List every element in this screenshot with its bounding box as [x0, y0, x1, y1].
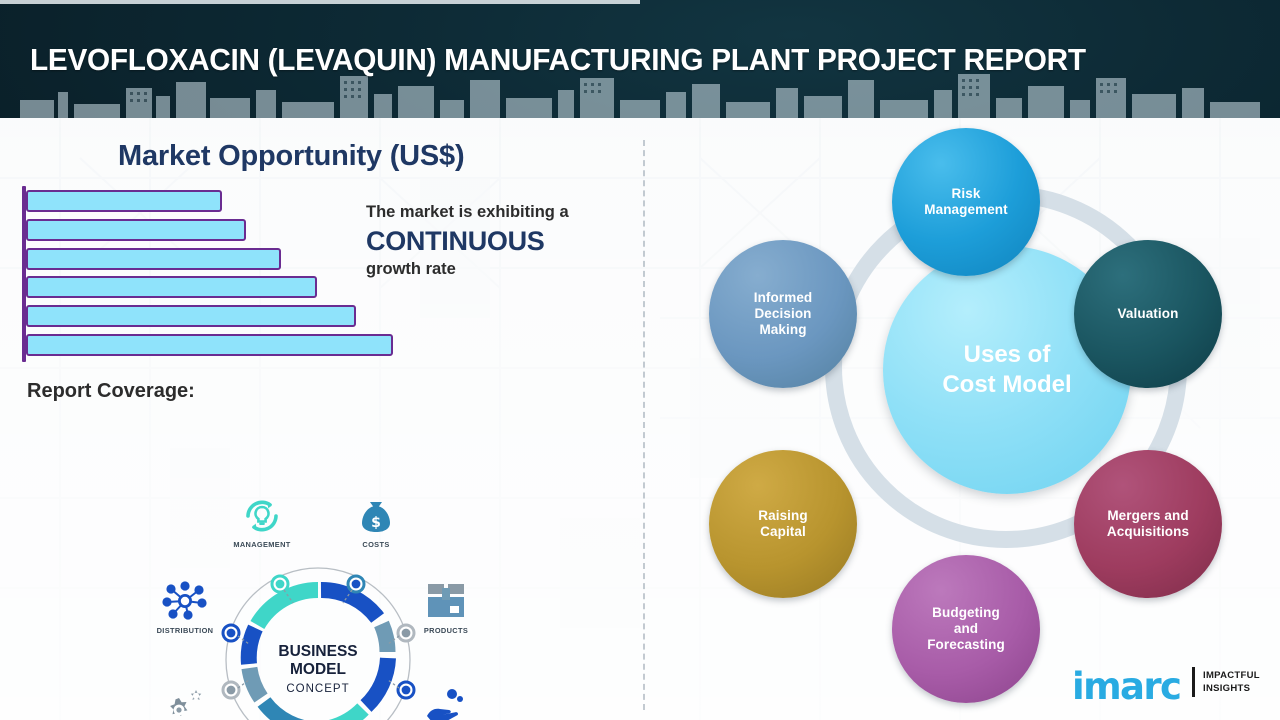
bubble-risk-management[interactable]: Risk Management — [892, 128, 1040, 276]
budgeting-line1: Budgeting — [927, 605, 1005, 621]
market-opportunity-title: Market Opportunity (US$) — [118, 140, 464, 173]
bubble-budgeting-and-forecasting[interactable]: Budgeting and Forecasting — [892, 555, 1040, 703]
informed-line2: Decision — [754, 306, 813, 322]
bar-4 — [26, 276, 317, 298]
bar-3 — [26, 248, 281, 270]
svg-text:CONCEPT: CONCEPT — [286, 683, 349, 695]
raising-capital-line1: Raising — [758, 508, 807, 524]
header-notch — [0, 0, 640, 4]
informed-line1: Informed — [754, 290, 813, 306]
imarc-wordmark: imarc — [1072, 665, 1180, 708]
valuation-label: Valuation — [1118, 306, 1179, 322]
logo-divider — [1192, 667, 1195, 697]
tagline-line2: INSIGHTS — [1203, 683, 1260, 696]
callout-line-1: The market is exhibiting a — [366, 202, 636, 223]
slide-body: Market Opportunity (US$) The market is e… — [0, 118, 1280, 720]
page-title: LEVOFLOXACIN (LEVAQUIN) MANUFACTURING PL… — [30, 42, 1086, 78]
raising-capital-line2: Capital — [758, 524, 807, 540]
risk-management-line2: Management — [924, 202, 1008, 218]
center-label-line2: Cost Model — [942, 370, 1071, 400]
budgeting-line3: Forecasting — [927, 637, 1005, 653]
bar-6 — [26, 334, 393, 356]
center-label-line1: Uses of — [942, 340, 1071, 370]
imarc-tagline: IMPACTFUL INSIGHTS — [1203, 670, 1260, 695]
bubble-mergers-and-acquisitions[interactable]: Mergers and Acquisitions — [1074, 450, 1222, 598]
risk-management-line1: Risk — [924, 186, 1008, 202]
bubble-raising-capital[interactable]: Raising Capital — [709, 450, 857, 598]
informed-line3: Making — [754, 322, 813, 338]
market-callout: The market is exhibiting a CONTINUOUS gr… — [366, 202, 636, 280]
market-opportunity-bar-chart — [22, 186, 422, 362]
callout-emphasis: CONTINUOUS — [366, 223, 636, 259]
budgeting-line2: and — [927, 621, 1005, 637]
svg-text:MODEL: MODEL — [290, 661, 346, 678]
bar-2 — [26, 219, 246, 241]
imarc-logo: imarc IMPACTFUL INSIGHTS — [1072, 661, 1272, 709]
page-header: LEVOFLOXACIN (LEVAQUIN) MANUFACTURING PL… — [0, 0, 1280, 118]
business-model-infographic: MANAGEMENT $ COSTS DISTRIBUTION — [140, 368, 480, 720]
bar-1 — [26, 190, 222, 212]
mergers-line1: Mergers and — [1107, 508, 1189, 524]
bubble-valuation[interactable]: Valuation — [1074, 240, 1222, 388]
bubble-informed-decision-making[interactable]: Informed Decision Making — [709, 240, 857, 388]
svg-text:BUSINESS: BUSINESS — [278, 643, 357, 660]
mergers-line2: Acquisitions — [1107, 524, 1189, 540]
uses-of-cost-model-diagram: Uses of Cost Model Risk Management Valua… — [640, 118, 1280, 720]
business-model-ring: BUSINESS MODEL CONCEPT — [140, 368, 480, 720]
bar-5 — [26, 305, 356, 327]
tagline-line1: IMPACTFUL — [1203, 670, 1260, 683]
callout-line-3: growth rate — [366, 259, 636, 280]
